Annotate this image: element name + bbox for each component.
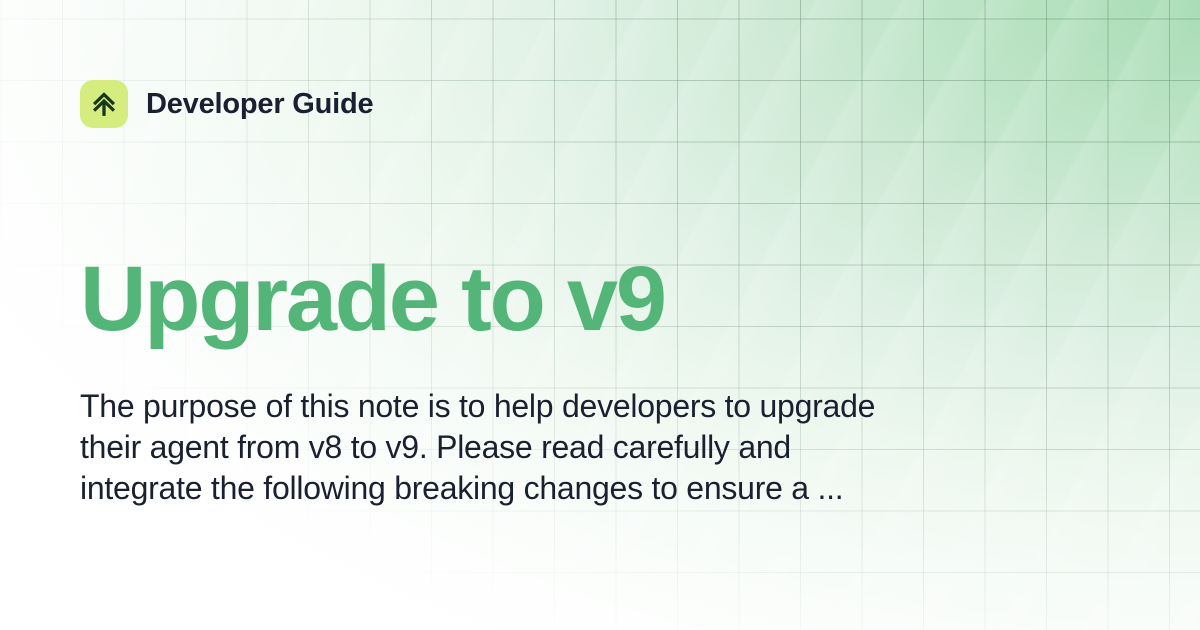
card-content: Developer Guide Upgrade to v9 The purpos… — [0, 0, 1200, 630]
page-title: Upgrade to v9 — [80, 253, 665, 345]
brand-title: Developer Guide — [146, 88, 373, 121]
upgrade-arrow-icon — [89, 89, 119, 119]
og-card-canvas: Developer Guide Upgrade to v9 The purpos… — [0, 0, 1200, 630]
brand-badge — [80, 80, 128, 128]
page-description: The purpose of this note is to help deve… — [80, 386, 880, 509]
brand-row: Developer Guide — [80, 80, 1120, 128]
